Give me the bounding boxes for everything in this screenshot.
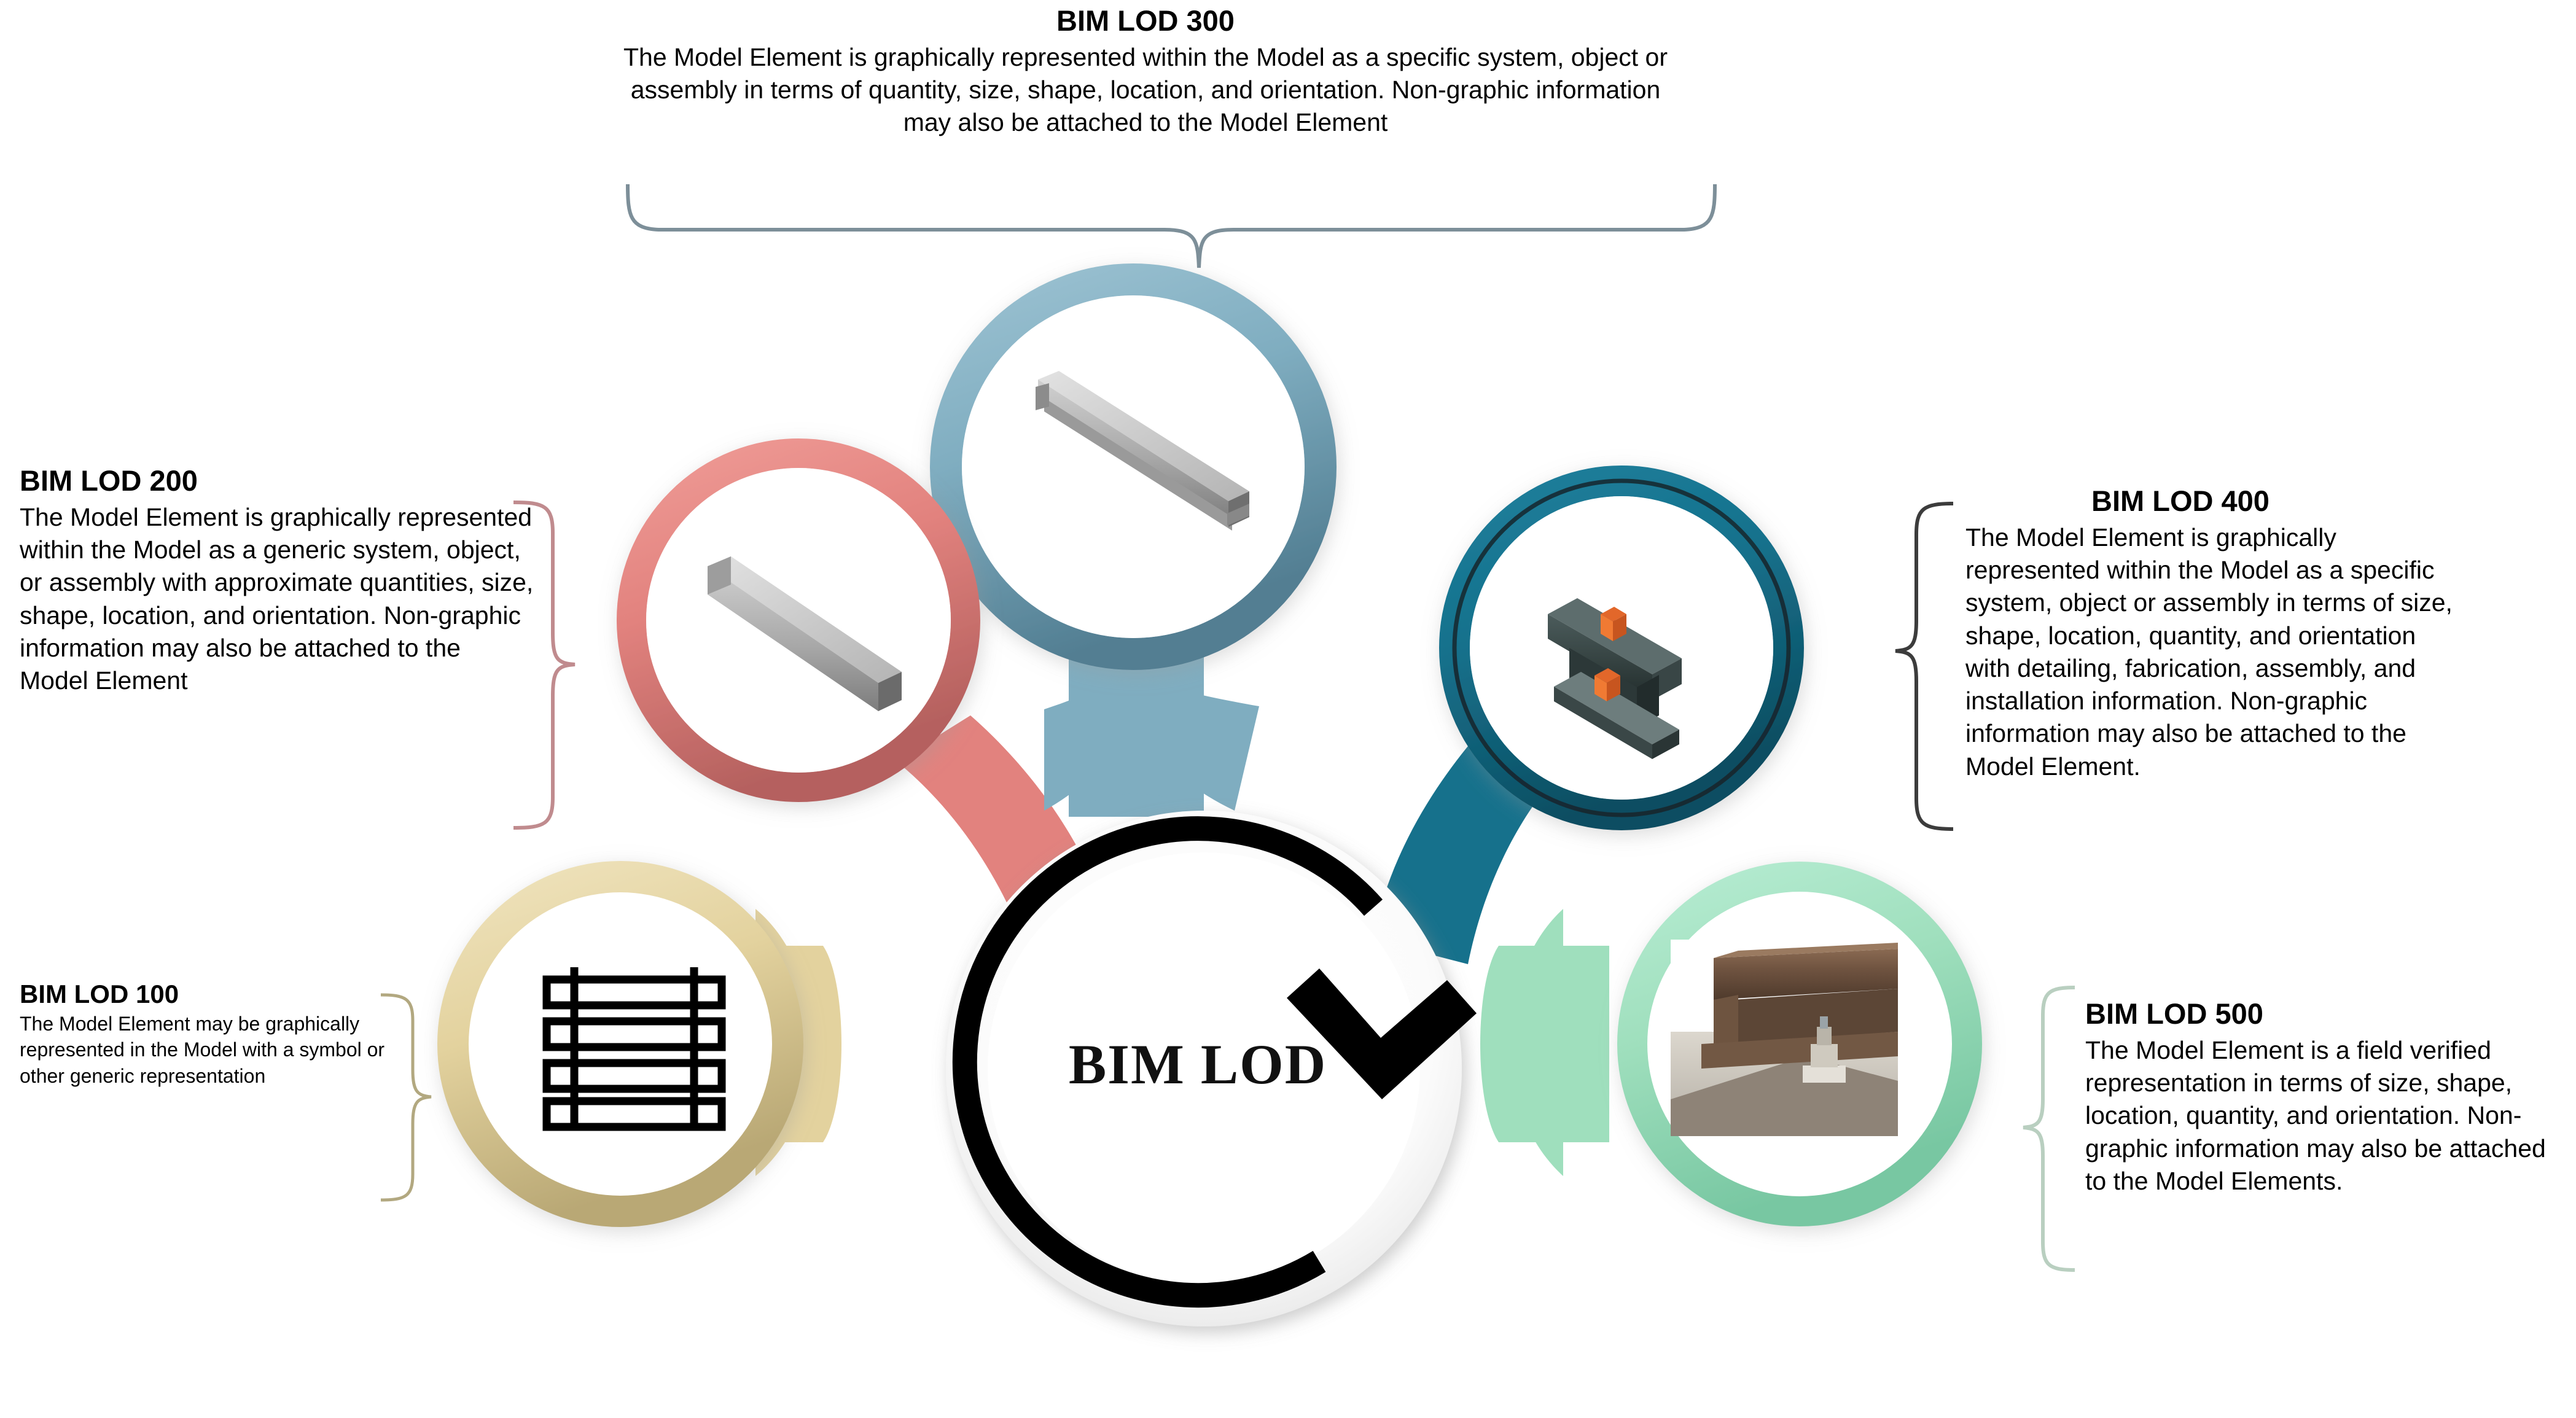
center-hub-label: BIM LOD <box>1007 1032 1388 1097</box>
diagram-canvas: BIM LOD 300 The Model Element is graphic… <box>0 0 2576 1418</box>
lod200-description: The Model Element is graphically represe… <box>20 501 536 698</box>
brace-lod400 <box>1895 504 1953 829</box>
lod400-title: BIM LOD 400 <box>1965 485 2395 518</box>
brace-lod500 <box>2023 988 2075 1270</box>
brace-lod300 <box>628 184 1715 268</box>
lod100-description: The Model Element may be graphically rep… <box>20 1011 394 1089</box>
lod200-title: BIM LOD 200 <box>20 465 536 497</box>
lod100-title: BIM LOD 100 <box>20 980 394 1008</box>
lod100-text-block: BIM LOD 100 The Model Element may be gra… <box>20 980 394 1089</box>
lod300-description: The Model Element is graphically represe… <box>614 41 1677 139</box>
lod500-description: The Model Element is a field verified re… <box>2085 1034 2570 1198</box>
stem-lod500 <box>1480 909 1609 1176</box>
lod400-text-block: BIM LOD 400 The Model Element is graphic… <box>1965 485 2457 783</box>
lod400-description: The Model Element is graphically represe… <box>1965 521 2457 783</box>
lod500-title: BIM LOD 500 <box>2085 998 2570 1030</box>
rail-fastener-photo-icon <box>1671 940 1898 1136</box>
lod300-text-block: BIM LOD 300 The Model Element is graphic… <box>614 5 1677 139</box>
lod300-title: BIM LOD 300 <box>614 5 1677 37</box>
lod500-text-block: BIM LOD 500 The Model Element is a field… <box>2085 998 2570 1198</box>
lod200-text-block: BIM LOD 200 The Model Element is graphic… <box>20 465 536 697</box>
